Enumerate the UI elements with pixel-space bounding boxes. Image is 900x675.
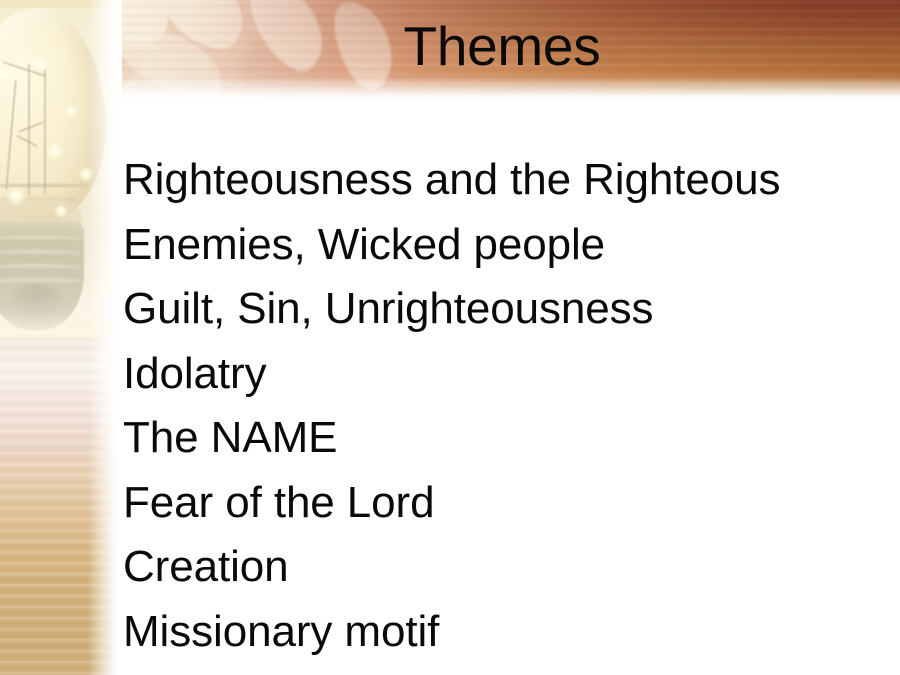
list-item: Righteousness and the Righteous xyxy=(123,148,863,213)
list-item: Idolatry xyxy=(123,342,863,407)
themes-list: Righteousness and the Righteous Enemies,… xyxy=(123,148,863,664)
sidebar-image-strip xyxy=(0,0,122,675)
list-item: Missionary motif xyxy=(123,600,863,665)
list-item: Guilt, Sin, Unrighteousness xyxy=(123,277,863,342)
sidebar-right-fade xyxy=(88,0,122,675)
presentation-slide: Themes Righteousness and the Righteous E… xyxy=(0,0,900,675)
list-item: Enemies, Wicked people xyxy=(123,213,863,278)
list-item: The NAME xyxy=(123,406,863,471)
list-item: Creation xyxy=(123,535,863,600)
slide-title: Themes xyxy=(122,12,882,80)
list-item: Fear of the Lord xyxy=(123,471,863,536)
